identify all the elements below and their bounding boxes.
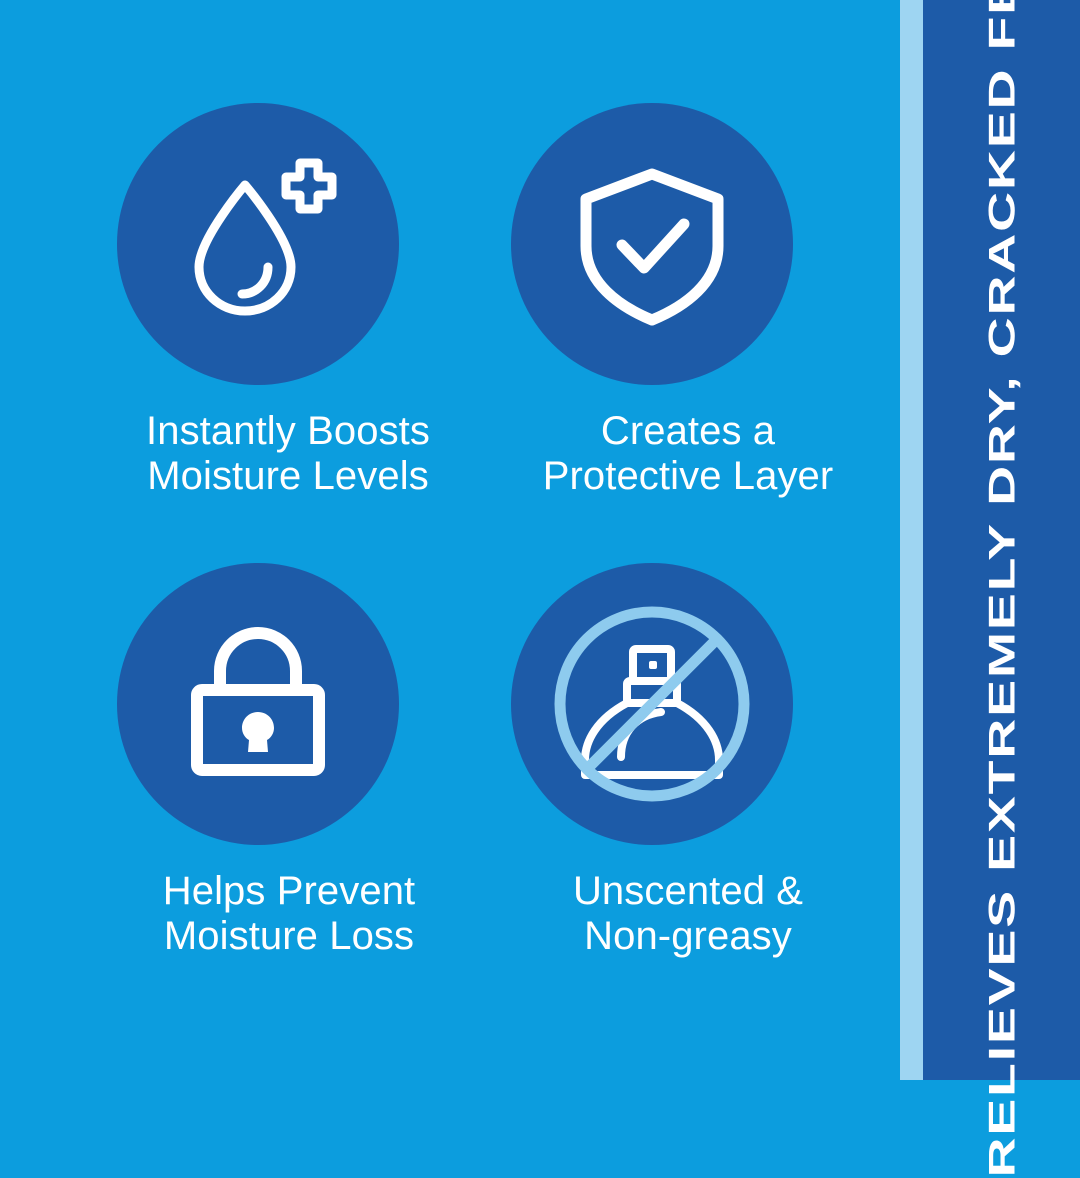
- padlock-icon: [173, 619, 343, 789]
- feature-label-line2: Moisture Levels: [108, 454, 468, 499]
- feature-label-line2: Moisture Loss: [110, 914, 468, 959]
- feature-label-line1: Helps Prevent: [163, 869, 416, 913]
- water-drop-plus-icon: [163, 149, 353, 339]
- infographic-canvas: Instantly Boosts Moisture Levels Creates…: [0, 0, 1080, 1080]
- feature-icon-circle: [117, 563, 399, 845]
- vertical-headline-text: RELIEVES EXTREMELY DRY, CRACKED FEET: [983, 0, 1020, 1178]
- feature-card-helps-prevent-moisture-loss: Helps Prevent Moisture Loss: [48, 563, 468, 959]
- feature-icon-circle: [117, 103, 399, 385]
- feature-card-unscented-and-non-greasy: Unscented & Non-greasy: [448, 563, 868, 959]
- vertical-headline: RELIEVES EXTREMELY DRY, CRACKED FEET: [923, 0, 1080, 1080]
- feature-icon-circle: [511, 103, 793, 385]
- feature-label-line2: Protective Layer: [508, 454, 868, 499]
- feature-label-line2: Non-greasy: [508, 914, 868, 959]
- feature-label: Creates a Protective Layer: [508, 409, 868, 499]
- feature-card-instantly-boosts-moisture-levels: Instantly Boosts Moisture Levels: [48, 103, 468, 499]
- feature-label: Instantly Boosts Moisture Levels: [108, 409, 468, 499]
- feature-card-creates-a-protective-layer: Creates a Protective Layer: [448, 103, 868, 499]
- feature-label-line1: Creates a: [601, 409, 775, 453]
- accent-stripe: [900, 0, 923, 1080]
- feature-label: Unscented & Non-greasy: [508, 869, 868, 959]
- feature-grid: Instantly Boosts Moisture Levels Creates…: [0, 0, 900, 1080]
- feature-icon-circle: [511, 563, 793, 845]
- feature-label: Helps Prevent Moisture Loss: [110, 869, 468, 959]
- shield-check-icon: [562, 154, 742, 334]
- feature-label-line1: Unscented &: [573, 869, 803, 913]
- no-fragrance-icon: [545, 597, 760, 812]
- feature-label-line1: Instantly Boosts: [146, 409, 430, 453]
